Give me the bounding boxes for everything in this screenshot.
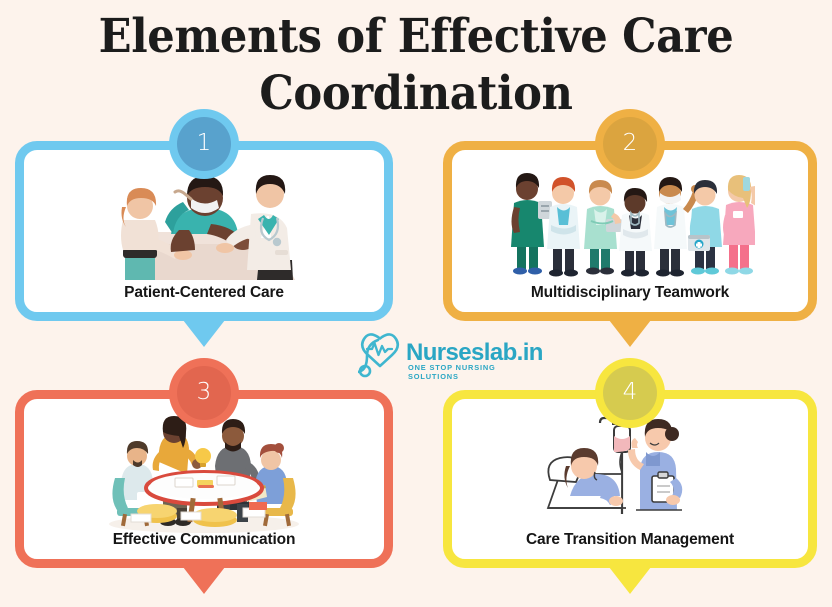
card-label: Effective Communication <box>25 531 383 549</box>
page-title: Elements of Effective Care Coordination <box>33 8 798 122</box>
card-number-badge-inner: 4 <box>603 366 657 420</box>
card-care-transition-management[interactable]: 4 <box>443 390 817 568</box>
infographic-canvas: Elements of Effective Care Coordination … <box>0 0 832 607</box>
page-title-line-2: Coordination <box>33 65 798 122</box>
patient-centered-care-illustration <box>15 167 393 277</box>
card-label: Multidisciplinary Teamwork <box>453 284 807 302</box>
page-title-line-1: Elements of Effective Care <box>99 9 734 64</box>
card-number: 2 <box>623 132 638 155</box>
card-number: 1 <box>197 132 212 155</box>
card-effective-communication[interactable]: 3 <box>15 390 393 568</box>
logo-tagline: ONE STOP NURSING SOLUTIONS <box>408 363 518 381</box>
card-number-badge: 2 <box>595 109 665 179</box>
card-multidisciplinary-teamwork[interactable]: 2 <box>443 141 817 321</box>
card-number-badge: 1 <box>169 109 239 179</box>
card-label: Patient-Centered Care <box>25 284 383 302</box>
card-number: 4 <box>623 381 638 404</box>
care-transition-management-illustration <box>443 416 817 524</box>
heart-ecg-stethoscope-icon <box>358 331 410 381</box>
card-number-badge-inner: 3 <box>177 366 231 420</box>
card-tail-arrow-icon <box>609 567 651 594</box>
card-number-badge: 3 <box>169 358 239 428</box>
card-label: Care Transition Management <box>453 531 807 549</box>
card-number-badge: 4 <box>595 358 665 428</box>
multidisciplinary-teamwork-illustration <box>443 167 817 277</box>
effective-communication-illustration <box>15 416 393 524</box>
card-number-badge-inner: 1 <box>177 117 231 171</box>
card-tail-arrow-icon <box>609 320 651 347</box>
card-number-badge-inner: 2 <box>603 117 657 171</box>
nurseslab-logo[interactable]: Nurseslab.in ONE STOP NURSING SOLUTIONS <box>358 331 518 383</box>
card-tail-arrow-icon <box>183 567 225 594</box>
card-tail-arrow-icon <box>183 320 225 347</box>
card-number: 3 <box>197 381 212 404</box>
card-patient-centered-care[interactable]: 1 <box>15 141 393 321</box>
